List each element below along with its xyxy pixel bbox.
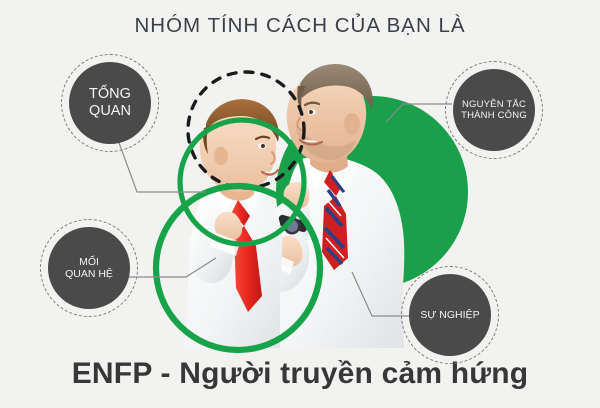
node-overview[interactable]: TỔNG QUAN bbox=[69, 62, 151, 144]
artboard: NHÓM TÍNH CÁCH CỦA BẠN LÀ bbox=[0, 0, 600, 408]
illustration-layer bbox=[0, 0, 600, 408]
node-relationship-label: MỐI QUAN HỆ bbox=[60, 256, 118, 281]
node-principles[interactable]: NGUYÊN TẮC THÀNH CÔNG bbox=[453, 69, 535, 151]
node-relationship[interactable]: MỐI QUAN HỆ bbox=[48, 227, 130, 309]
node-overview-label: TỔNG QUAN bbox=[84, 86, 136, 120]
result-label: ENFP - Người truyền cảm hứng bbox=[0, 357, 600, 391]
node-principles-label: NGUYÊN TẮC THÀNH CÔNG bbox=[456, 99, 532, 121]
node-career[interactable]: SỰ NGHIỆP bbox=[409, 274, 491, 356]
infographic-canvas: NHÓM TÍNH CÁCH CỦA BẠN LÀ bbox=[0, 0, 600, 408]
node-career-label: SỰ NGHIỆP bbox=[415, 309, 484, 321]
